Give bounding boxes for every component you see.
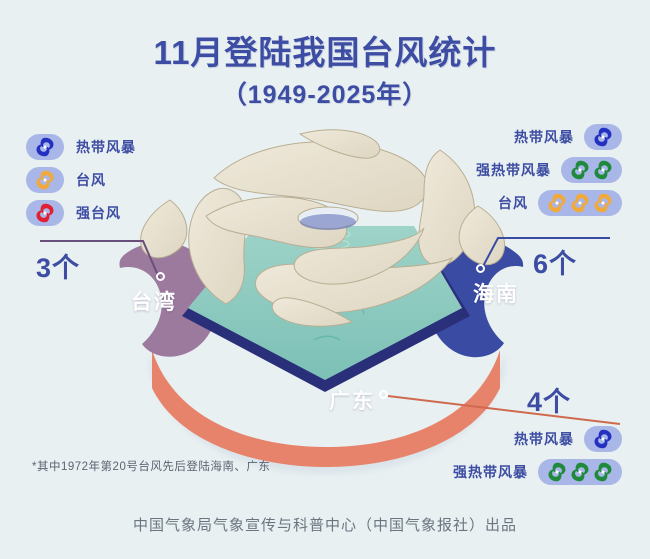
cyclone-icon <box>546 192 568 214</box>
count-label-hainan: 6个 <box>533 242 577 281</box>
legend-pill <box>584 426 622 452</box>
cyclone-icon <box>592 159 614 181</box>
legend-hainan: 热带风暴强热带风暴台风 <box>404 124 622 223</box>
legend-label: 热带风暴 <box>514 429 574 449</box>
legend-pill <box>584 124 622 150</box>
legend-label: 强热带风暴 <box>476 160 551 180</box>
cyclone-icon <box>592 428 614 450</box>
legend-label: 台风 <box>498 193 528 213</box>
cyclone-icon <box>592 461 614 483</box>
legend-label: 台风 <box>76 170 106 190</box>
legend-label: 热带风暴 <box>514 127 574 147</box>
legend-row: 台风 <box>26 167 136 193</box>
cyclone-icon <box>34 169 56 191</box>
legend-pill <box>26 200 64 226</box>
legend-row: 台风 <box>404 190 622 216</box>
location-marker-icon-hainan <box>476 264 485 273</box>
count-label-taiwan: 3个 <box>36 246 80 285</box>
legend-row: 强热带风暴 <box>396 459 622 485</box>
cyclone-icon <box>592 126 614 148</box>
legend-pill <box>26 134 64 160</box>
typhoon-eye-inner <box>300 214 356 230</box>
province-label-guangdong: 广东 <box>329 385 375 415</box>
legend-label: 热带风暴 <box>76 137 136 157</box>
cyclone-icon <box>569 461 591 483</box>
location-marker-icon-taiwan <box>156 272 165 281</box>
location-marker-icon-guangdong <box>379 390 388 399</box>
cyclone-icon <box>569 192 591 214</box>
legend-row: 强台风 <box>26 200 136 226</box>
footnote: *其中1972年第20号台风先后登陆海南、广东 <box>32 458 270 474</box>
cyclone-icon <box>569 159 591 181</box>
legend-pill <box>561 157 622 183</box>
legend-label: 强台风 <box>76 203 121 223</box>
legend-label: 强热带风暴 <box>453 462 528 482</box>
legend-taiwan: 热带风暴台风强台风 <box>26 134 136 233</box>
cyclone-icon <box>34 202 56 224</box>
province-label-taiwan: 台湾 <box>131 286 177 316</box>
cyclone-icon <box>592 192 614 214</box>
legend-pill <box>538 190 622 216</box>
count-label-guangdong: 4个 <box>527 380 571 419</box>
cyclone-icon <box>34 136 56 158</box>
credit-line: 中国气象局气象宣传与科普中心（中国气象报社）出品 <box>0 514 650 535</box>
legend-pill <box>538 459 622 485</box>
legend-row: 强热带风暴 <box>404 157 622 183</box>
legend-row: 热带风暴 <box>26 134 136 160</box>
infographic-canvas: 11月登陆我国台风统计 （1949-2025年） <box>0 0 650 559</box>
guangdong-leader-line <box>388 396 620 424</box>
legend-guangdong: 热带风暴强热带风暴 <box>396 426 622 492</box>
province-label-hainan: 海南 <box>473 278 519 308</box>
legend-pill <box>26 167 64 193</box>
legend-row: 热带风暴 <box>404 124 622 150</box>
cyclone-icon <box>546 461 568 483</box>
legend-row: 热带风暴 <box>396 426 622 452</box>
